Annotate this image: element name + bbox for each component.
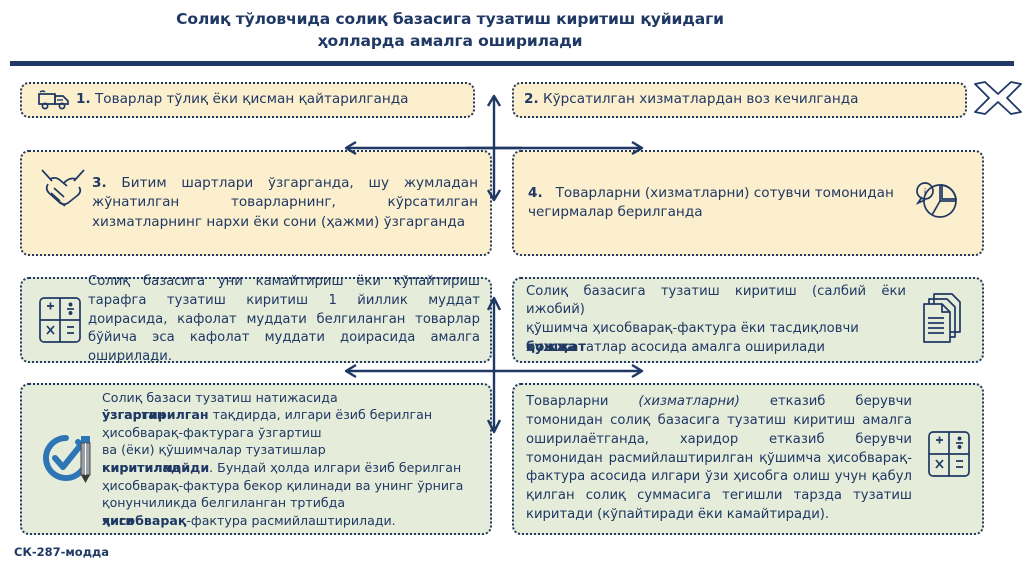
info-box-7-line-8-tail: -фактура расмийлаштирилади. (186, 513, 395, 528)
info-box-6-line-1: Солиқ базасига тузатиш киритиш (салбий ё… (526, 283, 906, 320)
info-box-5[interactable]: Солиқ базасига уни камайтириш ёки кўпайт… (20, 277, 492, 363)
cross-x-icon (971, 78, 1024, 122)
overlapped-text-uzgartirilgan: ўзгартирилган ўзгартирилган ўзгарган (102, 406, 209, 424)
info-box-8-text-post: етказиб берувчи томонидан солиқ базасига… (526, 394, 912, 521)
page-title-line-1: Солиқ тўловчида солиқ базасига тузатиш к… (100, 8, 800, 30)
info-box-7-line-5-tail: . Бундай ҳолда илгари ёзиб берилган (209, 460, 461, 475)
info-box-7-line-1: Солиқ базаси тузатиш натижасида (102, 389, 480, 407)
info-box-7-line-6: ҳисобварақ-фактура бекор қилинади ва уни… (102, 477, 480, 495)
info-box-8-text: Товарларни (хизматларни) етказиб берувчи… (526, 393, 970, 524)
four-way-arrow-cluster-top (466, 90, 522, 262)
info-box-7-line-7: қонунчиликда белгиланган тртибда (102, 494, 480, 512)
info-box-7-line-5: киритилмайди киритилмайди киритилади . Б… (102, 459, 480, 477)
handshake-icon (34, 164, 92, 218)
info-box-7-line-2-tail: тақдирда, илгари ёзиб берилган (213, 407, 432, 422)
info-box-8[interactable]: Товарларни (хизматларни) етказиб берувчи… (512, 383, 984, 535)
pie-chart-icon: i (910, 175, 968, 231)
info-box-7-line-8: ҳисобварақ ҳисобварақ янги -фактура расм… (102, 512, 480, 530)
overlapped-text-kiritilmaydi: киритилмайди киритилмайди киритилади (102, 459, 209, 477)
overlapped-text-hujjat: ҳужжат ҳужжат бошқа (526, 339, 586, 358)
condition-box-4-number: 4. (528, 185, 543, 201)
info-box-7-line-4: ва (ёки) қўшимчалар тузатишлар (102, 441, 480, 459)
svg-text:i: i (924, 188, 927, 198)
info-box-6-text: Солиқ базасига тузатиш киритиш (салбий ё… (526, 283, 970, 358)
info-box-8-text-italic: (хизматларни) (638, 394, 739, 409)
page-title-line-2: ҳолларда амалга оширилади (100, 30, 800, 52)
header-divider (10, 61, 1014, 66)
condition-box-2-label: Кўрсатилган хизматлардан воз кечилганда (543, 91, 859, 107)
truck-icon (32, 89, 76, 111)
info-box-7-line-3: ҳисобварақ-фактурага ўзгартиш (102, 424, 480, 442)
condition-box-1[interactable]: 1. Товарлар тўлиқ ёки қисман қайтарилган… (20, 82, 475, 118)
info-box-6-line-3: ҳужжат ҳужжат бошқа атлар асосида амалга… (526, 339, 906, 358)
info-box-5-text: Солиқ базасига уни камайтириш ёки кўпайт… (88, 273, 480, 367)
check-pencil-icon (32, 428, 102, 490)
condition-box-2[interactable]: 2. Кўрсатилган хизматлардан воз кечилган… (512, 82, 967, 118)
condition-box-4[interactable]: 4. Товарларни (хизматларни) сотувчи томо… (512, 150, 984, 256)
info-box-7[interactable]: Солиқ базаси тузатиш натижасида ўзгартир… (20, 383, 492, 535)
condition-box-3[interactable]: 3. Битим шартлари ўзгарганда, шу жумлада… (20, 150, 492, 256)
calculator-icon (32, 295, 88, 345)
condition-box-2-text: 2. Кўрсатилган хизматлардан воз кечилган… (524, 90, 955, 109)
info-box-7-text: Солиқ базаси тузатиш натижасида ўзгартир… (102, 389, 480, 530)
condition-box-3-text: 3. Битим шартлари ўзгарганда, шу жумлада… (92, 174, 478, 232)
footer-reference: СК-287-модда (14, 545, 109, 559)
documents-stack-icon (916, 290, 970, 350)
condition-box-3-label: Битим шартлари ўзгарганда, шу жумладан ж… (92, 175, 478, 230)
condition-box-3-number: 3. (92, 175, 107, 191)
info-box-8-text-pre: Товарларни (526, 394, 638, 409)
header: Солиқ тўловчида солиқ базасига тузатиш к… (0, 0, 1024, 66)
info-box-7-line-2: ўзгартирилган ўзгартирилган ўзгарган тақ… (102, 406, 480, 424)
page-title: Солиқ тўловчида солиқ базасига тузатиш к… (100, 8, 800, 52)
condition-box-1-number: 1. (76, 91, 91, 107)
calculator-icon (926, 429, 972, 483)
info-box-6[interactable]: Солиқ базасига тузатиш киритиш (салбий ё… (512, 277, 984, 363)
condition-box-1-label: Товарлар тўлиқ ёки қисман қайтарилганда (95, 91, 409, 107)
info-box-6-line-3-tail: атлар асосида амалга оширилади (586, 340, 825, 355)
overlapped-text-hisobvaraq: ҳисобварақ ҳисобварақ янги (102, 512, 186, 530)
info-box-6-line-2: қўшимча ҳисобварақ-фактура ёки тасдиқлов… (526, 320, 906, 339)
condition-box-2-number: 2. (524, 91, 539, 107)
condition-box-1-text: 1. Товарлар тўлиқ ёки қисман қайтарилган… (76, 90, 463, 109)
condition-box-4-label: Товарларни (хизматларни) сотувчи томонид… (528, 185, 894, 220)
condition-box-4-text: 4. Товарларни (хизматларни) сотувчи томо… (528, 184, 968, 223)
